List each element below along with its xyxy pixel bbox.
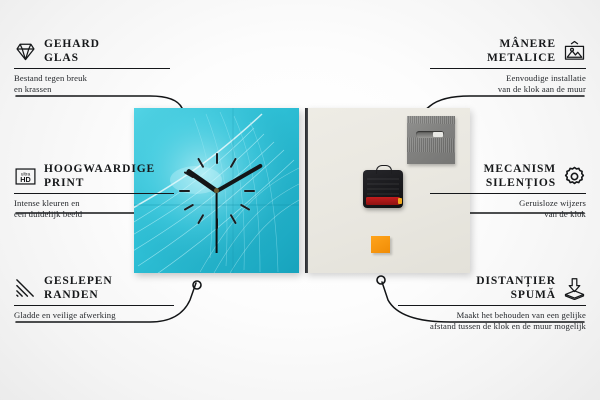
feature-description: Maakt het behouden van een gelijke afsta… — [398, 310, 586, 332]
divider — [14, 68, 170, 69]
feature-description: Eenvoudige installatie van de klok aan d… — [430, 73, 586, 95]
divider — [398, 305, 586, 306]
feature-hoogwaardige-print: ultra HD HOOGWAARDIGE PRINT Intense kleu… — [14, 163, 174, 220]
svg-text:HD: HD — [20, 175, 31, 184]
mechanism-vents — [367, 175, 399, 195]
divider — [430, 68, 586, 69]
feature-distantier-spuma: DISTANȚIER SPUMĂ Maakt het behouden van … — [398, 275, 586, 332]
hanger-slot — [416, 131, 444, 138]
feature-geslepen-randen: GESLEPEN RANDEN Gladde en veilige afwerk… — [14, 275, 174, 321]
gear-icon — [563, 165, 586, 188]
clock-center-pin — [214, 188, 219, 193]
feature-title: GESLEPEN RANDEN — [44, 275, 113, 302]
quartz-mechanism — [363, 170, 403, 208]
divider — [430, 193, 586, 194]
feature-gehard-glas: GEHARD GLAS Bestand tegen breuk en krass… — [14, 38, 170, 95]
divider — [14, 305, 174, 306]
foam-spacer — [371, 236, 390, 253]
feature-description: Gladde en veilige afwerking — [14, 310, 174, 321]
feature-title: HOOGWAARDIGE PRINT — [44, 163, 155, 190]
beveled-edge-icon — [14, 277, 37, 300]
feature-description: Intense kleuren en een duidelijk beeld — [14, 198, 174, 220]
infographic-canvas: GEHARD GLAS Bestand tegen breuk en krass… — [0, 0, 600, 400]
diamond-icon — [14, 40, 37, 63]
feature-title: MECANISM SILENȚIOS — [484, 163, 556, 190]
feature-description: Bestand tegen breuk en krassen — [14, 73, 170, 95]
feature-mecanism-silentios: MECANISM SILENȚIOS Geruisloze wijzers va… — [430, 163, 586, 220]
callout-endpoint-geslepen-randen — [193, 281, 201, 289]
battery — [366, 197, 400, 205]
feature-manere-metalice: MÂNERE METALICE Eenvoudige installatie v… — [430, 38, 586, 95]
divider — [14, 193, 174, 194]
spacer-pad-icon — [563, 277, 586, 300]
feature-description: Geruisloze wijzers van de klok — [430, 198, 586, 220]
callout-endpoint-distantier-spuma — [377, 276, 385, 284]
feature-title: MÂNERE METALICE — [487, 38, 556, 65]
feature-title: DISTANȚIER SPUMĂ — [476, 275, 556, 302]
ultra-hd-icon: ultra HD — [14, 165, 37, 188]
clock-second-hand — [216, 191, 218, 253]
metal-hanger-plate — [407, 116, 455, 164]
picture-hanger-icon — [563, 40, 586, 63]
feature-title: GEHARD GLAS — [44, 38, 100, 65]
